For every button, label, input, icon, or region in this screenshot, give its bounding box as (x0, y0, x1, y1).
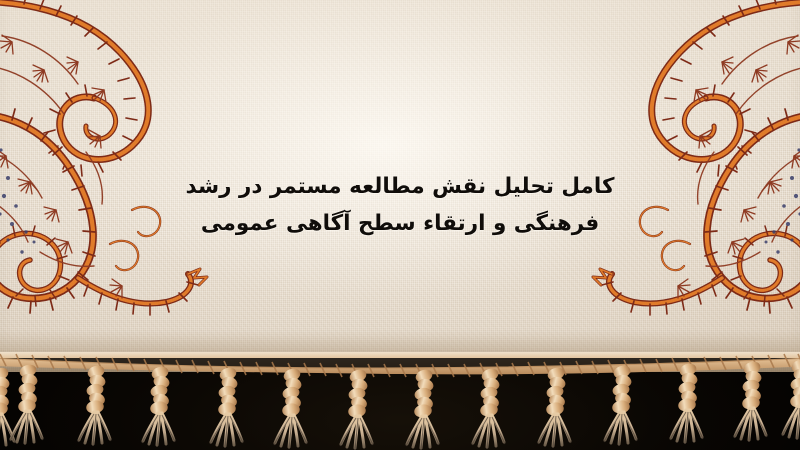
tassel-fringe (0, 352, 800, 450)
banner-stage: کامل تحلیل نقش مطالعه مستمر در رشد فرهنگ… (0, 0, 800, 450)
title-line-2: فرهنگی و ارتقاء سطح آگاهی عمومی (0, 205, 800, 242)
banner-title: کامل تحلیل نقش مطالعه مستمر در رشد فرهنگ… (0, 168, 800, 242)
title-line-1: کامل تحلیل نقش مطالعه مستمر در رشد (0, 168, 800, 205)
